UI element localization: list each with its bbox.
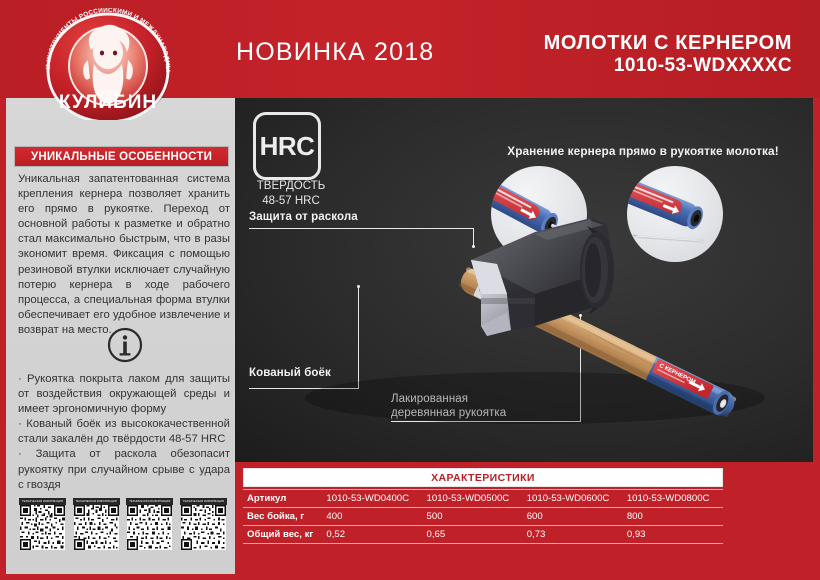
qr-code-row: ТЕХНИЧЕСКАЯ ИНФОРМАЦИЯ — [19, 498, 227, 550]
left-sidebar: УНИКАЛЬНЫЕ ОСОБЕННОСТИ Уникальная запате… — [6, 98, 235, 574]
qr-code-image — [73, 505, 120, 550]
product-sheet: НОВИНКА 2018 МОЛОТКИ С КЕРНЕРОМ 1010-53-… — [0, 0, 820, 580]
qr-code-image — [126, 505, 173, 550]
features-banner-label: УНИКАЛЬНЫЕ ОСОБЕННОСТИ — [31, 151, 212, 163]
row-value: 1010-53-WD0400C — [322, 490, 422, 508]
info-icon — [106, 326, 144, 364]
row-value: 500 — [423, 508, 523, 526]
specifications-table: ХАРАКТЕРИСТИКИ Артикул 1010-53-WD0400C 1… — [243, 468, 723, 544]
row-label: Артикул — [243, 490, 322, 508]
table-row: Общий вес, кг 0,52 0,65 0,73 0,93 — [243, 526, 723, 544]
row-value: 0,52 — [322, 526, 422, 544]
bullet-item: · Рукоятка покрыта лаком для защиты от в… — [18, 372, 230, 417]
brand-logo: ЛУЧШИЕ НАШИ ИНСТРУМЕНТЫ РОССИЙСКИМИ И МЕ… — [28, 8, 188, 120]
logo-series-text: -СЕРИЯ- — [94, 90, 121, 96]
row-label: Вес бойка, г — [243, 508, 322, 526]
table-row: Артикул 1010-53-WD0400C 1010-53-WD0500C … — [243, 490, 723, 508]
row-value: 0,93 — [623, 526, 723, 544]
row-value: 1010-53-WD0500C — [423, 490, 523, 508]
product-showcase-panel: HRC ТВЕРДОСТЬ 48-57 HRC Хранение кернера… — [235, 98, 813, 462]
row-value: 0,73 — [523, 526, 623, 544]
table-row: Вес бойка, г 400 500 600 800 — [243, 508, 723, 526]
bullet-item: · Кованый боёк из высококачественной ста… — [18, 417, 230, 447]
qr-code-item[interactable]: ТЕХНИЧЕСКАЯ ИНФОРМАЦИЯ — [73, 498, 120, 550]
row-label: Общий вес, кг — [243, 526, 322, 544]
qr-code-label: ТЕХНИЧЕСКАЯ ИНФОРМАЦИЯ — [19, 498, 66, 505]
qr-code-item[interactable]: ТЕХНИЧЕСКАЯ ИНФОРМАЦИЯ — [180, 498, 227, 550]
spec-table-grid: Артикул 1010-53-WD0400C 1010-53-WD0500C … — [243, 489, 723, 544]
row-value: 1010-53-WD0800C — [623, 490, 723, 508]
features-banner: УНИКАЛЬНЫЕ ОСОБЕННОСТИ — [14, 146, 229, 167]
bullet-item: · Защита от раскола обезопасит рукоятку … — [18, 447, 230, 492]
features-bullet-list: · Рукоятка покрыта лаком для защиты от в… — [18, 372, 230, 493]
row-value: 1010-53-WD0600C — [523, 490, 623, 508]
row-value: 0,65 — [423, 526, 523, 544]
row-value: 600 — [523, 508, 623, 526]
row-value: 400 — [322, 508, 422, 526]
features-description: Уникальная запатентованная система крепл… — [18, 172, 230, 338]
spec-table-title-bar: ХАРАКТЕРИСТИКИ — [243, 468, 723, 487]
qr-code-item[interactable]: ТЕХНИЧЕСКАЯ ИНФОРМАЦИЯ — [126, 498, 173, 550]
row-value: 800 — [623, 508, 723, 526]
qr-code-label: ТЕХНИЧЕСКАЯ ИНФОРМАЦИЯ — [126, 498, 173, 505]
product-heading: МОЛОТКИ С КЕРНЕРОМ 1010-53-WDXXXXC — [544, 32, 792, 78]
qr-code-item[interactable]: ТЕХНИЧЕСКАЯ ИНФОРМАЦИЯ — [19, 498, 66, 550]
hammer-product-image: ЗУБР 53 С КЕРНЕРОМ — [235, 98, 813, 462]
product-code: 1010-53-WDXXXXC — [544, 55, 792, 78]
qr-code-label: ТЕХНИЧЕСКАЯ ИНФОРМАЦИЯ — [180, 498, 227, 505]
qr-code-label: ТЕХНИЧЕСКАЯ ИНФОРМАЦИЯ — [73, 498, 120, 505]
new-badge-label: НОВИНКА 2018 — [236, 38, 434, 67]
spec-table-title: ХАРАКТЕРИСТИКИ — [431, 472, 535, 484]
qr-code-image — [19, 505, 66, 550]
product-title: МОЛОТКИ С КЕРНЕРОМ — [544, 32, 792, 55]
qr-code-image — [180, 505, 227, 550]
